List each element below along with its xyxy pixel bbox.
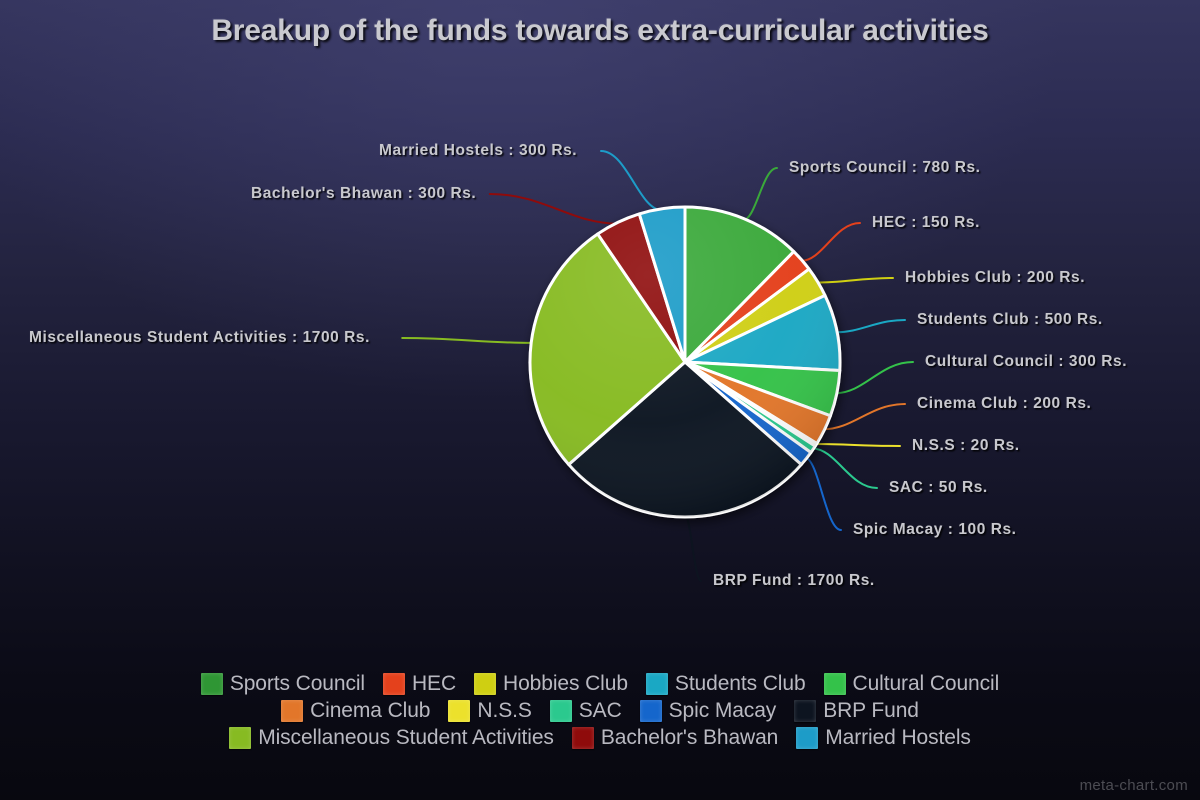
legend-label: Miscellaneous Student Activities xyxy=(258,726,554,750)
leader-line-cultural-council xyxy=(835,362,913,393)
legend-swatch-icon xyxy=(383,673,405,695)
legend-item-sports-council[interactable]: Sports Council xyxy=(201,672,365,696)
legend-label: Married Hostels xyxy=(825,726,971,750)
legend-label: Cultural Council xyxy=(853,672,1000,696)
callout-bachelors-bhawan: Bachelor's Bhawan : 300 Rs. xyxy=(251,185,476,203)
pie-slice[interactable] xyxy=(598,214,685,362)
legend-label: Hobbies Club xyxy=(503,672,628,696)
legend-swatch-icon xyxy=(796,727,818,749)
leader-line-sac xyxy=(812,448,877,488)
legend-swatch-icon xyxy=(474,673,496,695)
pie-slice[interactable] xyxy=(685,362,815,452)
pie-sheen-overlay xyxy=(530,207,840,517)
leader-line-married-hostels xyxy=(601,151,662,210)
legend-item-brp-fund[interactable]: BRP Fund xyxy=(794,699,919,723)
page-title: Breakup of the funds towards extra-curri… xyxy=(0,14,1200,48)
legend-item-spic-macay[interactable]: Spic Macay xyxy=(640,699,777,723)
callout-nss: N.S.S : 20 Rs. xyxy=(912,437,1020,455)
legend-label: BRP Fund xyxy=(823,699,919,723)
callout-sports-council: Sports Council : 780 Rs. xyxy=(789,159,981,177)
leader-lines xyxy=(402,151,913,581)
legend-item-cultural-council[interactable]: Cultural Council xyxy=(824,672,1000,696)
pie-slice[interactable] xyxy=(685,252,809,362)
legend-swatch-icon xyxy=(229,727,251,749)
callout-students-club: Students Club : 500 Rs. xyxy=(917,311,1103,329)
legend-item-cinema-club[interactable]: Cinema Club xyxy=(281,699,430,723)
callout-sac: SAC : 50 Rs. xyxy=(889,479,988,497)
pie-slice[interactable] xyxy=(685,269,825,362)
legend-label: Spic Macay xyxy=(669,699,777,723)
callout-married-hostels: Married Hostels : 300 Rs. xyxy=(379,142,577,160)
callout-cinema-club: Cinema Club : 200 Rs. xyxy=(917,395,1091,413)
pie-slice[interactable] xyxy=(685,295,840,370)
legend-label: Sports Council xyxy=(230,672,365,696)
legend-item-sac[interactable]: SAC xyxy=(550,699,622,723)
pie-slice[interactable] xyxy=(685,207,794,362)
legend-label: N.S.S xyxy=(477,699,531,723)
legend-item-bachelor-s-bhawan[interactable]: Bachelor's Bhawan xyxy=(572,726,778,750)
legend-swatch-icon xyxy=(794,700,816,722)
legend-row: Cinema ClubN.S.SSACSpic MacayBRP Fund xyxy=(272,699,928,723)
pie-slice[interactable] xyxy=(569,362,801,517)
leader-line-nss xyxy=(815,444,900,446)
legend-item-n-s-s[interactable]: N.S.S xyxy=(448,699,531,723)
callout-hobbies-club: Hobbies Club : 200 Rs. xyxy=(905,269,1085,287)
pie-slice[interactable] xyxy=(685,362,811,465)
legend: Sports CouncilHECHobbies ClubStudents Cl… xyxy=(0,672,1200,750)
legend-swatch-icon xyxy=(550,700,572,722)
legend-row: Sports CouncilHECHobbies ClubStudents Cl… xyxy=(192,672,1008,696)
leader-line-hobbies-club xyxy=(816,278,893,283)
chart-canvas: Breakup of the funds towards extra-curri… xyxy=(0,0,1200,800)
callout-cultural-council: Cultural Council : 300 Rs. xyxy=(925,353,1127,371)
leader-line-sports-council xyxy=(743,168,777,220)
legend-label: Bachelor's Bhawan xyxy=(601,726,778,750)
callout-brp-fund: BRP Fund : 1700 Rs. xyxy=(713,572,875,590)
pie-slice[interactable] xyxy=(530,234,685,465)
legend-item-miscellaneous-student-activities[interactable]: Miscellaneous Student Activities xyxy=(229,726,554,750)
legend-swatch-icon xyxy=(448,700,470,722)
legend-swatch-icon xyxy=(281,700,303,722)
leader-line-cinema-club xyxy=(823,404,905,429)
legend-swatch-icon xyxy=(572,727,594,749)
legend-label: SAC xyxy=(579,699,622,723)
legend-item-hobbies-club[interactable]: Hobbies Club xyxy=(474,672,628,696)
legend-swatch-icon xyxy=(640,700,662,722)
watermark: meta-chart.com xyxy=(1080,777,1188,794)
callout-hec: HEC : 150 Rs. xyxy=(872,214,980,232)
leader-line-brp-fund xyxy=(685,516,701,582)
legend-item-married-hostels[interactable]: Married Hostels xyxy=(796,726,971,750)
legend-item-students-club[interactable]: Students Club xyxy=(646,672,806,696)
pie-slice[interactable] xyxy=(685,362,817,446)
leader-line-misc-student xyxy=(402,338,533,343)
legend-item-hec[interactable]: HEC xyxy=(383,672,456,696)
callout-misc-student: Miscellaneous Student Activities : 1700 … xyxy=(29,329,370,347)
pie-slices xyxy=(530,207,840,517)
legend-swatch-icon xyxy=(646,673,668,695)
legend-label: Cinema Club xyxy=(310,699,430,723)
pie-slice[interactable] xyxy=(639,207,685,362)
legend-swatch-icon xyxy=(201,673,223,695)
leader-line-bachelors-bhawan xyxy=(490,194,619,224)
leader-line-hec xyxy=(801,223,860,261)
leader-line-spic-macay xyxy=(805,458,841,530)
legend-row: Miscellaneous Student ActivitiesBachelor… xyxy=(220,726,980,750)
pie-slice[interactable] xyxy=(685,362,830,443)
leader-line-students-club xyxy=(836,320,905,332)
callout-spic-macay: Spic Macay : 100 Rs. xyxy=(853,521,1017,539)
legend-label: Students Club xyxy=(675,672,806,696)
legend-label: HEC xyxy=(412,672,456,696)
legend-swatch-icon xyxy=(824,673,846,695)
pie-slice[interactable] xyxy=(685,362,840,416)
